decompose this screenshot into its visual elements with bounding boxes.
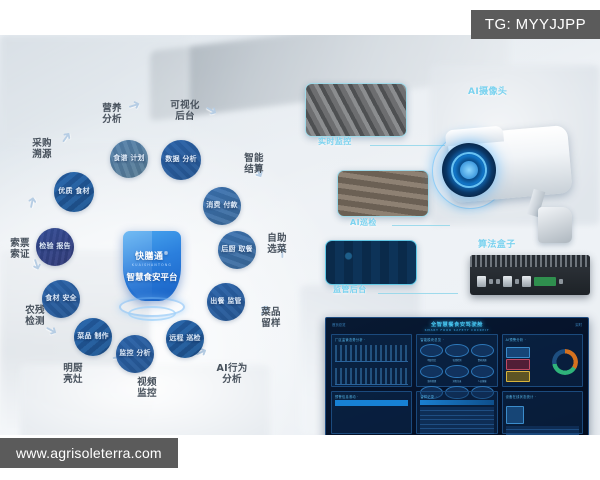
infographic-image: ➜ ➜ ➜ ➜ ➜ ➜ ➜ ➜ ➜ ➜ ➜ 优质 食材 采购 溯源 食谱 计划 … — [0, 35, 600, 435]
tg-tag-overlay: TG: MYYJJPP — [471, 10, 600, 39]
module-icon — [420, 344, 443, 357]
table-header-row — [420, 400, 493, 405]
antenna-port-icon — [559, 279, 563, 284]
shield-icon: 快膳通® KUAISHANTONG 智慧食安平台 — [123, 231, 181, 301]
module-entry[interactable]: 食材溯源 — [471, 344, 494, 362]
node-label: 消费 付款 — [204, 202, 239, 210]
node-shipu-jihua[interactable]: 食谱 计划 — [110, 140, 148, 178]
node-yuancheng-xunjian[interactable]: 远程 巡检 — [166, 320, 204, 358]
module-label: 留样管理 — [420, 379, 443, 383]
node-shicai-anquan[interactable]: 食材 安全 — [42, 280, 80, 318]
dashboard-screenshot[interactable]: 首页总览 实时 全智慧餐食安驾驶舱 SMART FOOD SAFETY COCK… — [325, 317, 589, 435]
dashboard-title-text: 全智慧餐食安驾驶舱 — [431, 322, 483, 328]
module-entry[interactable]: 人员健康 — [471, 365, 494, 383]
card-alarm-stats[interactable]: AI预警分析 · — [502, 334, 583, 387]
heatsink-fins — [470, 255, 590, 267]
node-chucan-jianguan[interactable]: 出餐 监管 — [207, 283, 245, 321]
node-outer-label-suopiao-suozheng: 索票 索证 — [2, 238, 38, 260]
node-label: 监控 分析 — [117, 350, 152, 358]
node-outer-label-shipin-jiankong: 视频 监控 — [126, 377, 168, 399]
kpi-chip-warning — [506, 371, 530, 382]
node-outer-label-keshihua-houtai: 可视化 后台 — [160, 100, 210, 122]
node-jiankong-fenxi[interactable]: 监控 分析 — [116, 335, 154, 373]
rj45-port-icon — [477, 276, 486, 287]
card-header: 留样记录 · — [420, 394, 437, 399]
card-header: 智能模块总览 · — [420, 337, 444, 342]
brand-name: 快膳通® — [135, 249, 169, 262]
usb-port-icon — [489, 279, 493, 284]
panel-backend-label: 监管后台 — [333, 284, 367, 295]
alert-ticker-bar — [335, 400, 408, 406]
platform-subtitle: 智慧食安平台 — [126, 271, 177, 283]
node-outer-label-zizhu-xuancai: 自助 选菜 — [256, 233, 298, 255]
module-entry[interactable]: 消毒记录 — [445, 365, 468, 383]
module-icon — [420, 365, 443, 378]
card-header: 设备在线状态统计 · — [506, 394, 537, 399]
website-watermark: www.agrisoleterra.com — [0, 438, 178, 468]
leader-line — [392, 225, 450, 226]
module-label: 明厨亮灶 — [420, 358, 443, 362]
dashboard-title: 全智慧餐食安驾驶舱 SMART FOOD SAFETY COCKPIT — [326, 321, 588, 332]
kpi-chip-alert — [506, 359, 530, 370]
node-label: 数据 分析 — [163, 156, 198, 164]
module-label: 食材溯源 — [471, 358, 494, 362]
node-label: 菜品 制作 — [75, 333, 110, 341]
panel-realtime-thumbnail[interactable] — [305, 83, 407, 137]
flow-arrow-icon: ➜ — [24, 195, 41, 210]
card-header: 预警信息滚动 · — [335, 394, 359, 399]
node-youzhi-shicai[interactable]: 优质 食材 — [54, 172, 94, 212]
module-label: 农残检测 — [445, 358, 468, 362]
node-outer-label-zhineng-jiesuan: 智能 结算 — [232, 153, 276, 175]
panel-ai-patrol-label: AI巡检 — [350, 217, 377, 228]
card-header: AI预警分析 · — [506, 337, 526, 342]
bar-chart-mini — [335, 345, 408, 362]
glow-ring-inner — [128, 306, 176, 321]
node-label: 检验 报告 — [37, 243, 72, 251]
node-label: 远程 巡检 — [167, 335, 202, 343]
camera-wall-mount — [538, 207, 572, 243]
leader-line — [370, 145, 445, 146]
module-entry[interactable]: 农残检测 — [445, 344, 468, 362]
module-icon — [445, 365, 468, 378]
bar-chart-mini — [335, 368, 408, 385]
usb-port-icon — [496, 279, 500, 284]
node-jianyan-baogao[interactable]: 检验 报告 — [36, 228, 74, 266]
node-outer-label-mingchu-liangzao: 明厨 亮灶 — [52, 363, 94, 385]
table-row — [420, 429, 493, 433]
donut-chart — [552, 349, 578, 375]
ai-camera-label: AI摄像头 — [468, 84, 507, 97]
node-label: 食材 安全 — [43, 295, 78, 303]
card-record-table[interactable]: 留样记录 · — [416, 391, 497, 434]
card-module-entries[interactable]: 智能模块总览 · 明厨亮灶 农残检测 食材溯源 留样管理 消毒记录 人员健康 A… — [416, 334, 497, 387]
node-houchu-qucan[interactable]: 后厨 取餐 — [218, 231, 256, 269]
card-supervision-trend[interactable]: 厂区监管态势分析 · — [331, 334, 412, 387]
rj45-port-icon — [503, 276, 512, 287]
panel-backend-thumbnail[interactable] — [325, 240, 417, 285]
node-caipin-zhizuo[interactable]: 菜品 制作 — [74, 318, 112, 356]
card-header: 厂区监管态势分析 · — [335, 337, 366, 342]
brand-registered-mark: ® — [164, 251, 170, 257]
module-label: 人员健康 — [471, 379, 494, 383]
module-icon — [471, 365, 494, 378]
status-tile — [506, 406, 524, 424]
brand-name-en: KUAISHANTONG — [132, 263, 172, 267]
power-led-icon — [515, 279, 519, 284]
node-outer-label-ai-xingwei-fenxi: AI行为 分析 — [206, 363, 258, 385]
module-icon — [471, 344, 494, 357]
module-icon — [445, 344, 468, 357]
module-entry[interactable]: 明厨亮灶 — [420, 344, 443, 362]
dashboard-grid: 厂区监管态势分析 · 智能模块总览 · 明厨亮灶 农残检测 食材溯源 留样管理 … — [331, 334, 583, 434]
node-outer-label-yingyang-fenxi: 营养 分析 — [90, 103, 134, 125]
algorithm-box-device — [470, 255, 590, 295]
node-label: 优质 食材 — [56, 188, 91, 196]
node-outer-label-caigou-suyuan: 采购 溯源 — [20, 138, 64, 160]
kpi-chip-info — [506, 347, 530, 358]
node-label: 食谱 计划 — [111, 155, 146, 163]
node-label: 后厨 取餐 — [219, 246, 254, 254]
background-ghost — [0, 35, 190, 145]
node-outer-label-caipin-liuyang: 菜品 留样 — [250, 307, 292, 329]
algorithm-box-label: 算法盒子 — [478, 237, 516, 250]
leader-line — [378, 293, 458, 294]
node-xiaofei-fukuan[interactable]: 消费 付款 — [203, 187, 241, 225]
dashboard-title-en: SMART FOOD SAFETY COCKPIT — [326, 329, 588, 332]
rj45-port-icon — [522, 276, 531, 287]
panel-ai-patrol-thumbnail[interactable] — [337, 170, 429, 217]
center-shield: 快膳通® KUAISHANTONG 智慧食安平台 — [118, 231, 186, 327]
device-ports — [474, 272, 592, 290]
module-entry[interactable]: 留样管理 — [420, 365, 443, 383]
module-label: 消毒记录 — [445, 379, 468, 383]
card-alert-ticker[interactable]: 预警信息滚动 · — [331, 391, 412, 434]
screenshot-root: ➜ ➜ ➜ ➜ ➜ ➜ ➜ ➜ ➜ ➜ ➜ 优质 食材 采购 溯源 食谱 计划 … — [0, 0, 600, 480]
node-shuju-fenxi[interactable]: 数据 分析 — [161, 140, 201, 180]
terminal-block-icon — [534, 277, 556, 286]
node-label: 出餐 监管 — [208, 298, 243, 306]
brand-text: 快膳通 — [135, 252, 164, 262]
panel-realtime-label: 实时监控 — [318, 136, 352, 147]
card-device-status[interactable]: 设备在线状态统计 · — [502, 391, 583, 434]
